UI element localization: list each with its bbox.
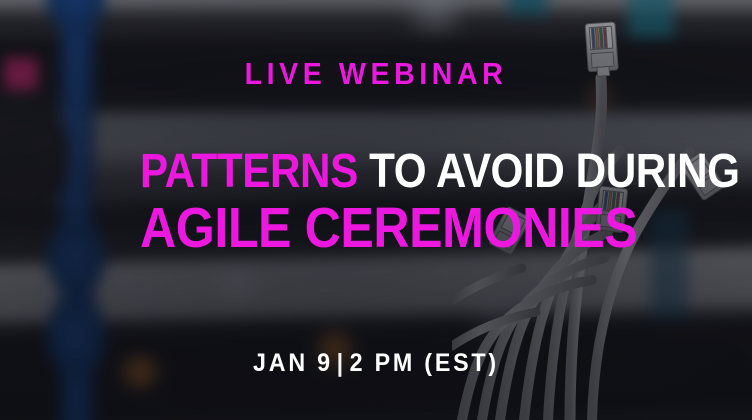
headline-accent-patterns: PATTERNS bbox=[140, 145, 358, 198]
datetime-separator: | bbox=[333, 349, 350, 377]
datetime-line: JAN 9|2 PM (EST) bbox=[26, 349, 725, 378]
headline-line-2: AGILE CEREMONIES bbox=[140, 201, 668, 257]
headline: PATTERNS TO AVOID DURING AGILE CEREMONIE… bbox=[140, 148, 740, 257]
headline-line-1: PATTERNS TO AVOID DURING bbox=[140, 148, 668, 195]
webinar-banner: LIVE WEBINAR PATTERNS TO AVOID DURING AG… bbox=[0, 0, 752, 420]
webinar-time: 2 PM (EST) bbox=[350, 349, 499, 377]
eyebrow-live-webinar: LIVE WEBINAR bbox=[30, 58, 722, 89]
banner-content: LIVE WEBINAR PATTERNS TO AVOID DURING AG… bbox=[0, 0, 752, 420]
headline-accent-agile-ceremonies: AGILE CEREMONIES bbox=[140, 196, 637, 260]
headline-plain-to-avoid-during: TO AVOID DURING bbox=[358, 145, 740, 198]
webinar-date: JAN 9 bbox=[253, 349, 333, 377]
